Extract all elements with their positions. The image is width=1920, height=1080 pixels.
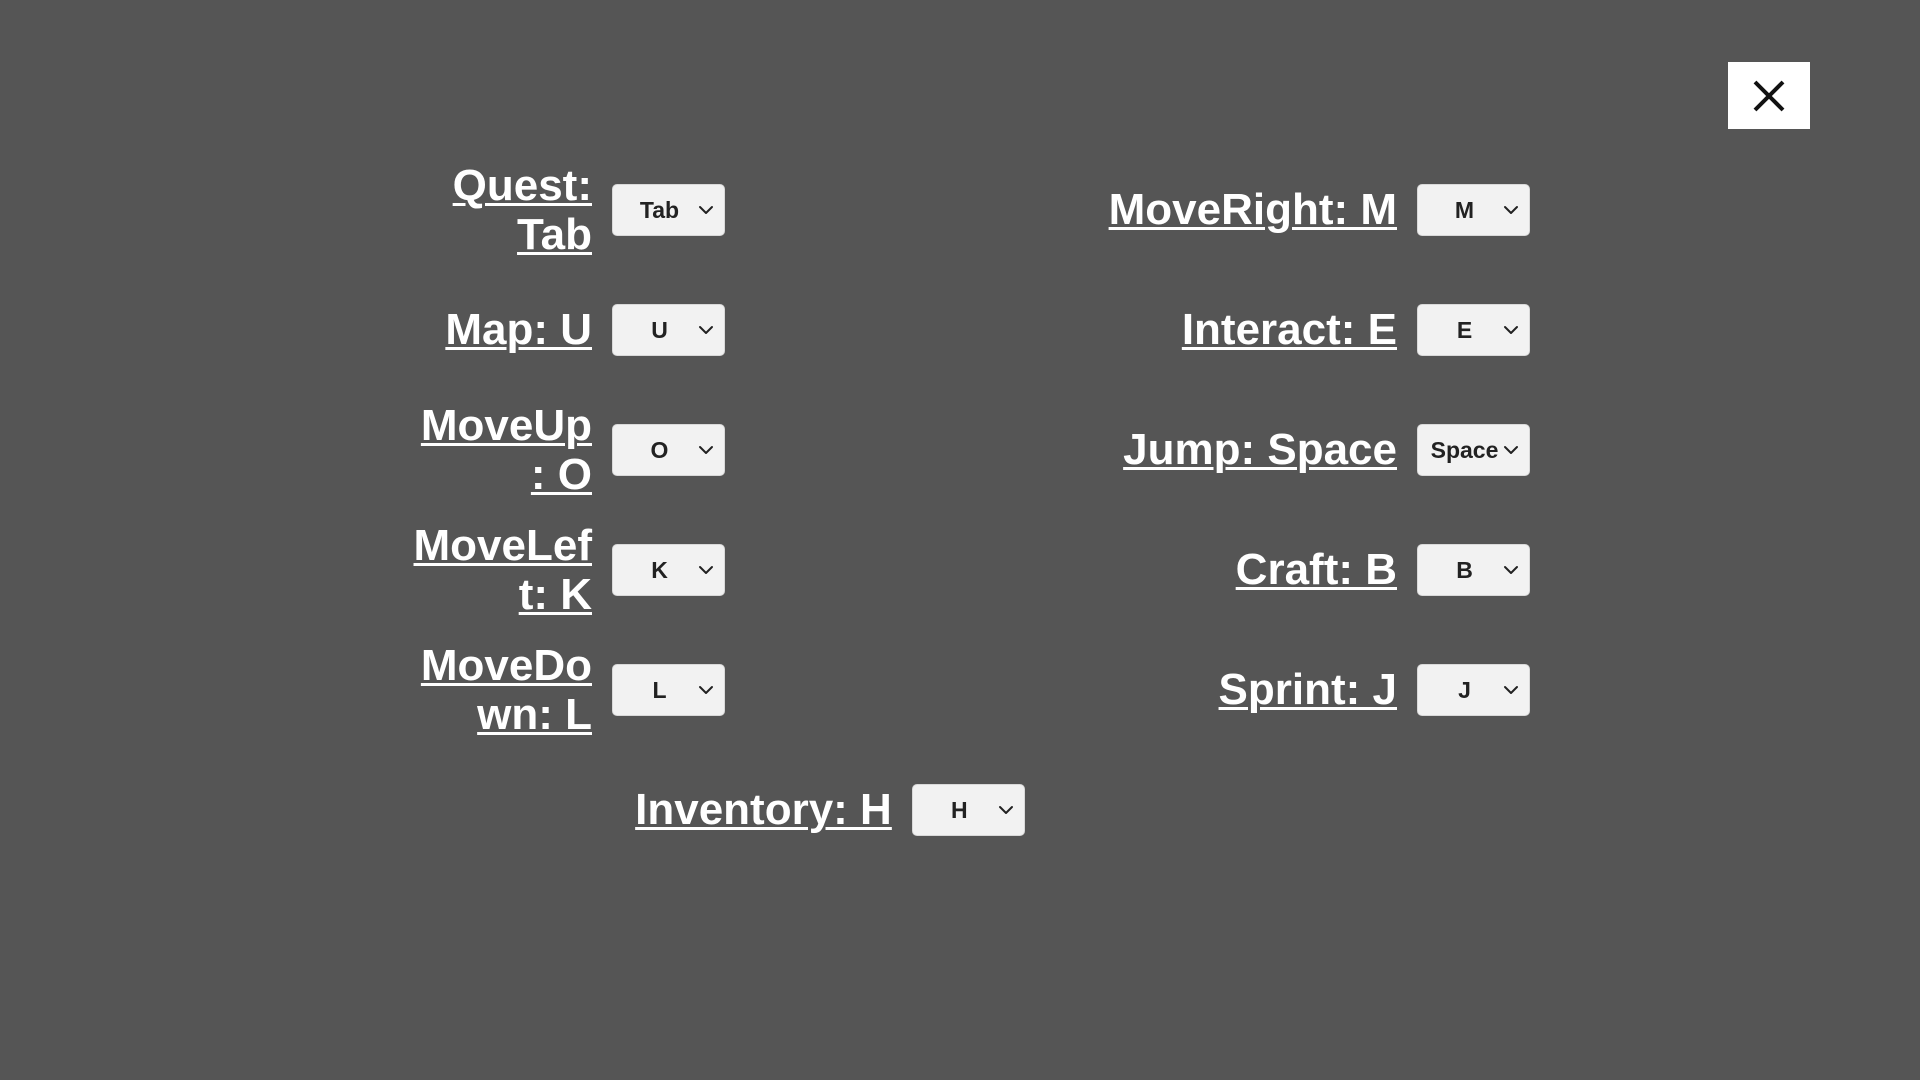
key-select-value: K [621,558,698,583]
key-select-interact[interactable]: E [1417,304,1530,356]
keybinding-label-moveleft: MoveLeft: K [412,521,592,620]
key-select-moveleft[interactable]: K [612,544,725,596]
key-select-map[interactable]: U [612,304,725,356]
keybinding-row-interact: Interact: EE [805,270,1530,390]
keybinding-label-moveup: MoveUp: O [412,401,592,500]
close-icon [1750,77,1788,115]
key-select-inventory[interactable]: H [912,784,1025,836]
chevron-down-icon [698,322,714,338]
keybinding-row-moveup: MoveUp: OO [0,390,725,510]
key-select-sprint[interactable]: J [1417,664,1530,716]
keybinding-label-moveright: MoveRight: M [1109,185,1397,234]
chevron-down-icon [998,802,1014,818]
keybindings-grid: Quest: TabTabMoveRight: MMMap: UUInterac… [0,150,1920,870]
keybinding-row-map: Map: UU [0,270,725,390]
chevron-down-icon [1503,682,1519,698]
keybinding-label-craft: Craft: B [1236,545,1397,594]
chevron-down-icon [1503,322,1519,338]
key-select-value: U [621,318,698,343]
chevron-down-icon [1503,562,1519,578]
chevron-down-icon [698,442,714,458]
close-button[interactable] [1728,62,1810,129]
keybinding-label-map: Map: U [445,305,592,354]
chevron-down-icon [698,562,714,578]
chevron-down-icon [698,202,714,218]
chevron-down-icon [698,682,714,698]
keybinding-row-sprint: Sprint: JJ [805,630,1530,750]
key-select-value: B [1426,558,1503,583]
chevron-down-icon [1503,442,1519,458]
key-select-value: M [1426,198,1503,223]
keybinding-row-quest: Quest: TabTab [0,150,725,270]
keybinding-label-interact: Interact: E [1182,305,1397,354]
keybindings-list: Quest: TabTabMoveRight: MMMap: UUInterac… [0,150,1920,870]
keybinding-label-quest: Quest: Tab [412,161,592,260]
key-select-moveup[interactable]: O [612,424,725,476]
keybinding-label-jump: Jump: Space [1123,425,1397,474]
keybindings-overlay: Quest: TabTabMoveRight: MMMap: UUInterac… [0,0,1920,1080]
keybinding-row-craft: Craft: BB [805,510,1530,630]
key-select-movedown[interactable]: L [612,664,725,716]
keybinding-row-movedown: MoveDown: LL [0,630,725,750]
key-select-moveright[interactable]: M [1417,184,1530,236]
key-select-value: L [621,678,698,703]
key-select-value: H [921,798,998,823]
key-select-value: Tab [621,198,698,223]
key-select-value: J [1426,678,1503,703]
key-select-value: Space [1426,438,1503,463]
keybinding-row-moveleft: MoveLeft: KK [0,510,725,630]
key-select-value: O [621,438,698,463]
key-select-craft[interactable]: B [1417,544,1530,596]
key-select-quest[interactable]: Tab [612,184,725,236]
keybinding-label-sprint: Sprint: J [1219,665,1397,714]
key-select-jump[interactable]: Space [1417,424,1530,476]
key-select-value: E [1426,318,1503,343]
keybinding-row-moveright: MoveRight: MM [805,150,1530,270]
keybinding-label-movedown: MoveDown: L [412,641,592,740]
keybinding-row-jump: Jump: SpaceSpace [805,390,1530,510]
keybinding-label-inventory: Inventory: H [635,785,892,834]
keybinding-row-inventory: Inventory: HH [0,750,1530,870]
chevron-down-icon [1503,202,1519,218]
